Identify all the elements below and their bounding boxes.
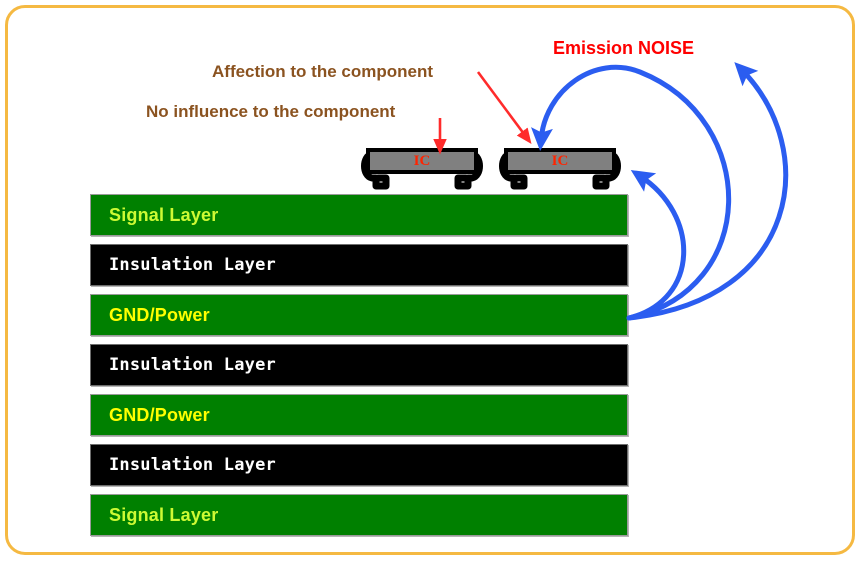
pcb-layer-label: Signal Layer — [91, 505, 218, 526]
no-influence-callout-label: No influence to the component — [146, 102, 395, 122]
ic-label-right: IC — [552, 154, 569, 169]
ic-body-left: IC — [366, 148, 478, 174]
pcb-layer-row: Signal Layer — [90, 494, 628, 536]
pcb-layer-row: GND/Power — [90, 394, 628, 436]
pcb-layer-label: Insulation Layer — [91, 355, 276, 375]
affection-callout-label: Affection to the component — [212, 62, 433, 82]
pcb-layer-row: Insulation Layer — [90, 244, 628, 286]
pcb-layer-label: Insulation Layer — [91, 255, 276, 275]
pcb-layer-label: GND/Power — [91, 305, 210, 326]
pcb-layer-row: Signal Layer — [90, 194, 628, 236]
pcb-layer-label: Signal Layer — [91, 205, 218, 226]
pcb-layer-label: Insulation Layer — [91, 455, 276, 475]
pcb-layer-label: GND/Power — [91, 405, 210, 426]
pcb-layer-row: Insulation Layer — [90, 344, 628, 386]
ic-package-right: IC — [498, 148, 622, 192]
pcb-layer-row: GND/Power — [90, 294, 628, 336]
ic-package-left: IC — [360, 148, 484, 192]
ic-label-left: IC — [414, 154, 431, 169]
emission-noise-label: Emission NOISE — [553, 38, 694, 59]
ic-body-right: IC — [504, 148, 616, 174]
diagram-canvas: Signal LayerInsulation LayerGND/PowerIns… — [0, 0, 864, 564]
pcb-layer-row: Insulation Layer — [90, 444, 628, 486]
